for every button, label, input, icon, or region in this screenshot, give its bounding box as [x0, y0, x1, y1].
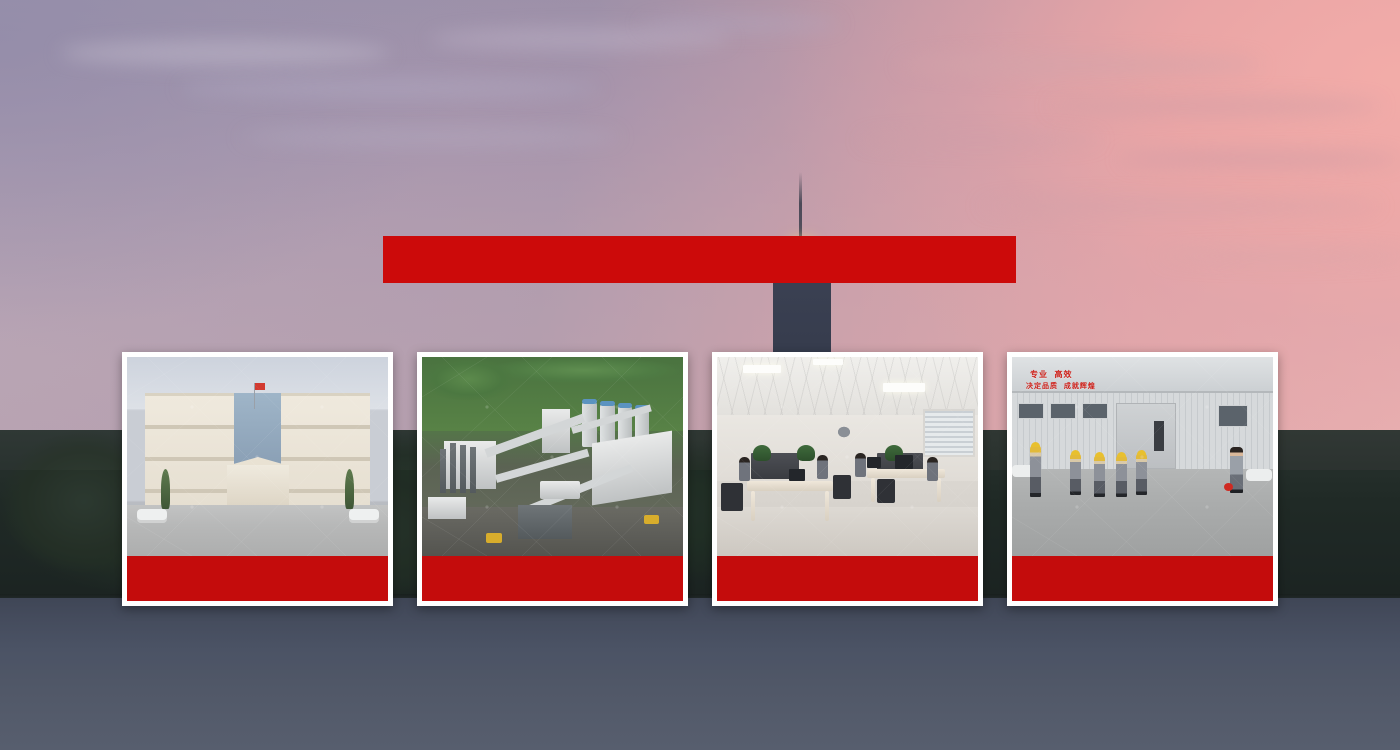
subtitle-banner — [383, 236, 1016, 283]
parked-car — [349, 509, 379, 523]
office-floor — [717, 507, 978, 556]
hq-photo — [127, 357, 388, 556]
feature-card-system[interactable] — [712, 352, 983, 606]
cloud-wisp — [430, 28, 730, 50]
parked-car — [1246, 469, 1272, 481]
feature-card-training[interactable]: 专业 高效 决定品质 成就辉煌 — [1007, 352, 1278, 606]
worker — [1030, 445, 1041, 497]
cloud-wisp — [640, 16, 840, 32]
office-plant — [797, 445, 815, 461]
hard-hat-icon — [1031, 442, 1040, 447]
desk-leg — [751, 491, 755, 521]
wall-decal — [829, 419, 859, 445]
stack — [460, 445, 466, 493]
card-caption-service — [127, 556, 388, 601]
ceiling-light — [883, 383, 925, 392]
monitor — [789, 469, 805, 481]
tree — [345, 469, 354, 509]
feature-card-row: 专业 高效 决定品质 成就辉煌 — [122, 352, 1278, 606]
cloud-wisp — [1120, 150, 1400, 168]
red-helmet-icon — [1224, 483, 1233, 491]
silo-cap — [618, 403, 632, 408]
door-opening — [1154, 421, 1164, 451]
factory-window — [1218, 405, 1248, 427]
office-chair — [721, 483, 743, 511]
office-photo — [717, 357, 978, 556]
plant-photo — [422, 357, 683, 556]
flag-icon — [255, 383, 265, 390]
factory-slogan: 决定品质 成就辉煌 — [1026, 381, 1096, 391]
card-caption-system — [717, 556, 978, 601]
excavator — [644, 515, 659, 524]
hard-hat-icon — [1117, 452, 1126, 457]
monitor — [895, 455, 913, 469]
hard-hat-icon — [1137, 450, 1146, 455]
tank — [540, 481, 580, 499]
employee — [739, 457, 750, 481]
silo-cap — [582, 399, 597, 404]
employee — [855, 453, 866, 477]
cloud-wisp — [1050, 96, 1380, 116]
office-plant — [753, 445, 771, 461]
hard-hat-icon — [1071, 450, 1080, 455]
desk-leg — [871, 478, 875, 502]
cloud-wisp — [860, 132, 1100, 148]
feature-card-value[interactable] — [417, 352, 688, 606]
card-photo-plant — [422, 357, 683, 556]
office-block — [428, 497, 466, 519]
factory-window — [1082, 403, 1108, 419]
parked-car — [137, 509, 167, 523]
shed — [518, 505, 572, 539]
monitor — [867, 457, 881, 468]
cloud-wisp — [240, 128, 620, 146]
desk — [747, 481, 833, 491]
silo-cap — [600, 401, 615, 406]
factory-slogan: 专业 高效 — [1030, 369, 1072, 380]
card-caption-training — [1012, 556, 1273, 601]
ceiling-light — [813, 359, 843, 365]
employee — [927, 457, 938, 481]
cloud-wisp — [60, 40, 390, 66]
employee — [817, 455, 828, 479]
tree — [161, 469, 170, 509]
excavator — [486, 533, 502, 543]
workers-photo: 专业 高效 决定品质 成就辉煌 — [1012, 357, 1273, 556]
desk-leg — [937, 478, 941, 502]
worker — [1136, 453, 1147, 495]
stack — [450, 443, 456, 493]
office-window — [923, 409, 975, 457]
feature-card-service[interactable] — [122, 352, 393, 606]
river-water — [0, 598, 1400, 750]
stack — [470, 447, 476, 493]
conveyor — [495, 449, 589, 483]
card-photo-workers: 专业 高效 决定品质 成就辉煌 — [1012, 357, 1273, 556]
worker — [1094, 455, 1105, 497]
office-chair — [833, 475, 851, 499]
cloud-wisp — [980, 196, 1380, 216]
cloud-wisp — [900, 52, 1260, 78]
hard-hat-icon — [1095, 452, 1104, 457]
office-chair — [877, 479, 895, 503]
cloud-wisp — [180, 78, 600, 98]
worker — [1070, 453, 1081, 495]
card-photo-headquarters — [127, 357, 388, 556]
card-photo-office — [717, 357, 978, 556]
ceiling-light — [743, 365, 781, 373]
card-caption-value — [422, 556, 683, 601]
factory-window — [1018, 403, 1044, 419]
desk-leg — [825, 491, 829, 521]
factory-window — [1050, 403, 1076, 419]
promotional-banner: 专业 高效 决定品质 成就辉煌 — [0, 0, 1400, 750]
stack — [440, 449, 446, 493]
building-entrance — [227, 465, 289, 505]
worker — [1116, 455, 1127, 497]
